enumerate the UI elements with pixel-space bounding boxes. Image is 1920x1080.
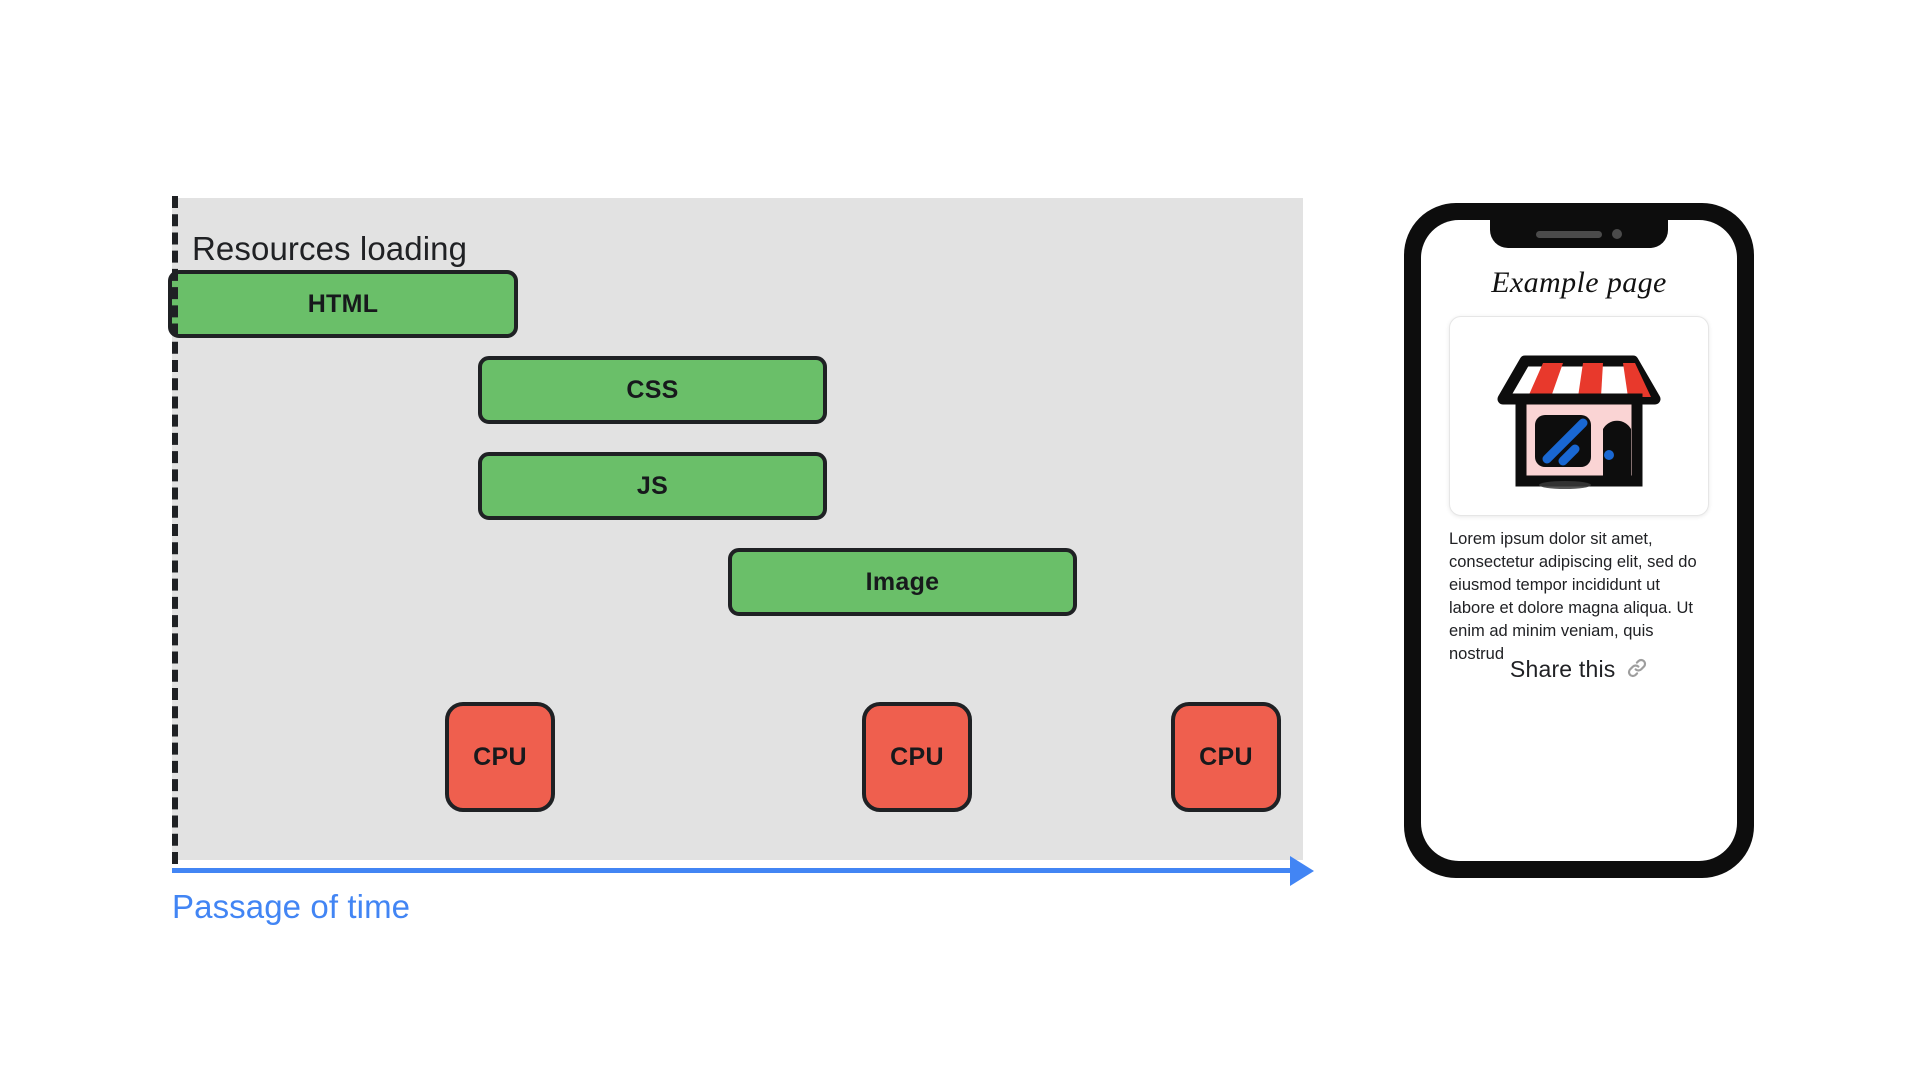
cpu-task-label: CPU bbox=[1199, 743, 1253, 772]
diagram-title: Resources loading bbox=[192, 230, 467, 268]
phone-notch bbox=[1490, 220, 1668, 248]
resource-bar-html: HTML bbox=[168, 270, 518, 338]
cpu-task-label: CPU bbox=[473, 743, 527, 772]
page-title: Example page bbox=[1421, 266, 1737, 300]
navigation-start-dashed-line bbox=[172, 196, 178, 864]
cpu-task-box-1: CPU bbox=[445, 702, 555, 812]
share-row[interactable]: Share this bbox=[1421, 656, 1737, 685]
resource-bar-label: JS bbox=[637, 472, 668, 501]
time-axis-line bbox=[172, 868, 1300, 873]
resource-bar-css: CSS bbox=[478, 356, 827, 424]
resource-bar-label: CSS bbox=[626, 376, 678, 405]
share-label: Share this bbox=[1510, 656, 1616, 682]
resource-bar-image: Image bbox=[728, 548, 1077, 616]
resource-bar-js: JS bbox=[478, 452, 827, 520]
phone-mockup: Example page bbox=[1404, 203, 1754, 878]
storefront-emoji-icon bbox=[1495, 337, 1663, 495]
resource-bar-label: Image bbox=[866, 568, 940, 597]
time-axis-label: Passage of time bbox=[172, 888, 410, 926]
phone-screen: Example page bbox=[1421, 220, 1737, 861]
link-chain-icon[interactable] bbox=[1626, 657, 1648, 685]
time-axis-arrow-icon bbox=[1290, 856, 1314, 886]
resource-bar-label: HTML bbox=[308, 290, 379, 319]
body-text: Lorem ipsum dolor sit amet, consectetur … bbox=[1449, 528, 1697, 666]
cpu-task-box-3: CPU bbox=[1171, 702, 1281, 812]
cpu-task-box-2: CPU bbox=[862, 702, 972, 812]
earpiece-speaker-icon bbox=[1536, 231, 1602, 238]
hero-image-card bbox=[1449, 316, 1709, 516]
resources-loading-diagram: HTML CSS JS Image CPU CPU CPU bbox=[172, 198, 1303, 860]
cpu-task-label: CPU bbox=[890, 743, 944, 772]
front-camera-icon bbox=[1612, 229, 1622, 239]
